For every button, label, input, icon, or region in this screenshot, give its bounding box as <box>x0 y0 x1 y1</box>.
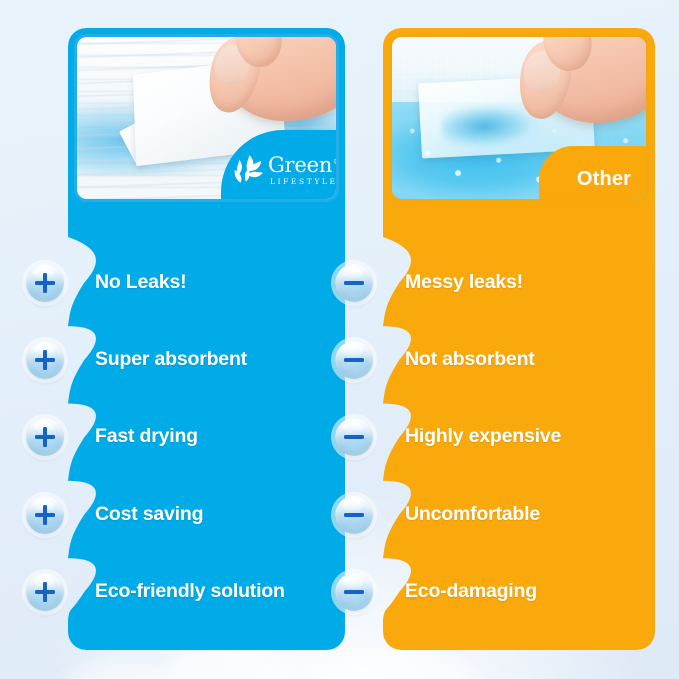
list-item[interactable]: Cost saving <box>68 498 345 531</box>
plus-icon[interactable]: + <box>26 418 64 456</box>
list-item[interactable]: Fast drying <box>68 420 345 453</box>
icon-column-plus: + + + + + <box>26 224 74 650</box>
minus-icon[interactable]: − <box>335 418 373 456</box>
product-photo-other: Other <box>389 34 649 202</box>
plus-icon[interactable]: + <box>26 341 64 379</box>
product-photo-green-lifestyle: Green® LIFESTYLE <box>74 34 339 202</box>
minus-icon[interactable]: − <box>335 341 373 379</box>
feature-label: Eco-damaging <box>405 580 537 603</box>
brand-name: Green® <box>268 155 339 176</box>
minus-icon[interactable]: − <box>335 573 373 611</box>
comparison-infographic: Green® LIFESTYLE No Leaks! Super absorbe… <box>0 0 679 679</box>
list-item[interactable]: Eco-friendly solution <box>68 575 345 608</box>
feature-label: Cost saving <box>95 503 203 526</box>
list-item[interactable]: No Leaks! <box>68 266 345 299</box>
list-item[interactable]: Not absorbent <box>383 343 655 376</box>
feature-label: Super absorbent <box>95 348 247 371</box>
feature-label: Fast drying <box>95 425 198 448</box>
list-item[interactable]: Highly expensive <box>383 420 655 453</box>
other-label: Other <box>577 168 631 191</box>
feature-list-other: Messy leaks! Not absorbent Highly expens… <box>383 224 655 650</box>
list-item[interactable]: Messy leaks! <box>383 266 655 299</box>
feature-label: Not absorbent <box>405 348 535 371</box>
minus-icon[interactable]: − <box>335 496 373 534</box>
feature-label: Highly expensive <box>405 425 561 448</box>
list-item[interactable]: Super absorbent <box>68 343 345 376</box>
background-glow-2 <box>300 648 490 679</box>
plus-icon[interactable]: + <box>26 573 64 611</box>
feature-label: No Leaks! <box>95 271 186 294</box>
list-item[interactable]: Uncomfortable <box>383 498 655 531</box>
feature-label: Uncomfortable <box>405 503 540 526</box>
minus-icon[interactable]: − <box>335 264 373 302</box>
panel-green-lifestyle: Green® LIFESTYLE No Leaks! Super absorbe… <box>68 28 345 650</box>
brand-subtitle: LIFESTYLE <box>270 178 339 186</box>
panel-other: Other Messy leaks! Not absorbent Highly … <box>383 28 655 650</box>
leaf-icon <box>232 153 266 187</box>
plus-icon[interactable]: + <box>26 496 64 534</box>
brand-trademark: ® <box>333 158 339 166</box>
plus-icon[interactable]: + <box>26 264 64 302</box>
other-label-tab: Other <box>539 146 649 202</box>
feature-list-green-lifestyle: No Leaks! Super absorbent Fast drying Co… <box>68 224 345 650</box>
feature-label: Eco-friendly solution <box>95 580 285 603</box>
icon-column-minus: − − − − − <box>335 224 383 650</box>
liquid-bleedthrough <box>440 102 549 149</box>
feature-label: Messy leaks! <box>405 271 523 294</box>
list-item[interactable]: Eco-damaging <box>383 575 655 608</box>
